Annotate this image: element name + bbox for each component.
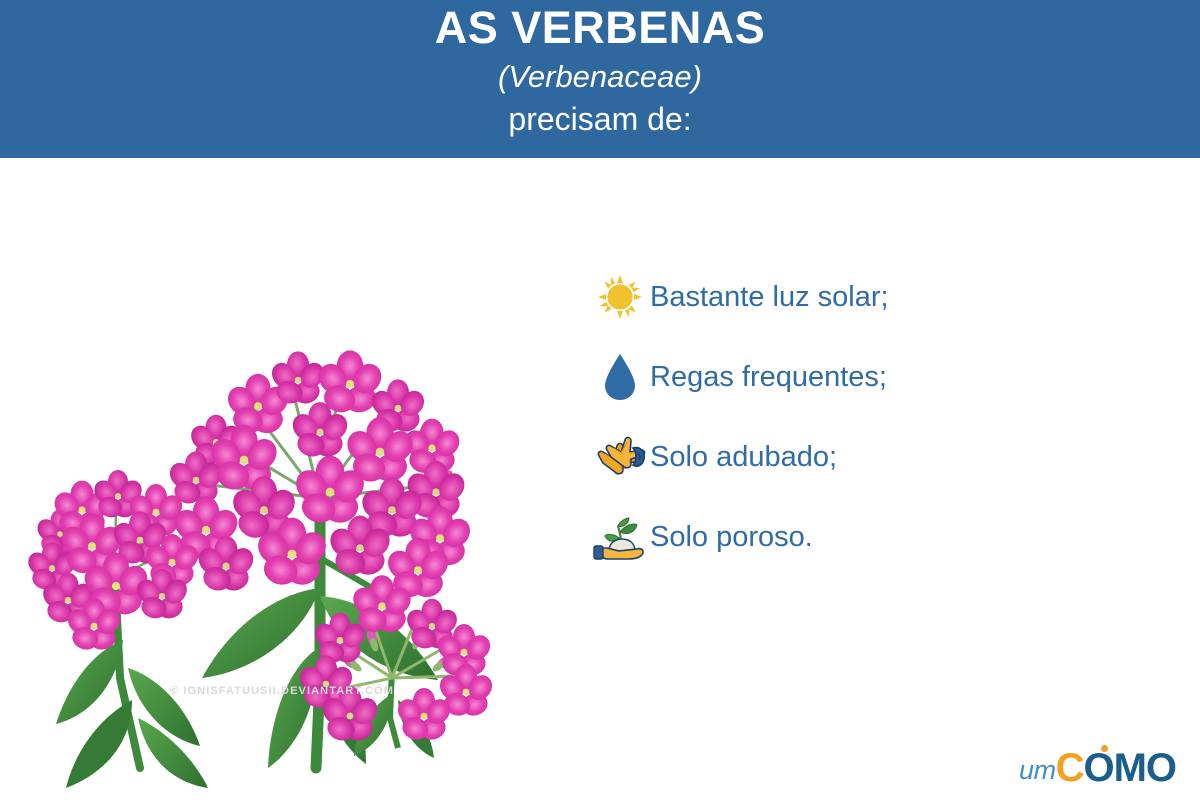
logo-como-text: COMO [1056,748,1176,788]
header-banner: AS VERBENAS (Verbenaceae) precisam de: [0,0,1200,158]
gardening-gloves-icon [592,429,648,485]
sun-icon [592,269,648,325]
requirement-label: Regas frequentes; [650,363,887,392]
water-drop-icon [592,349,648,405]
umcomo-logo[interactable]: um COMO [1019,742,1176,788]
infographic-page: AS VERBENAS (Verbenaceae) precisam de: [0,0,1200,800]
requirement-label: Solo adubado; [650,443,837,472]
requirement-label: Solo poroso. [650,523,813,552]
page-title: AS VERBENAS [435,4,766,53]
requirement-item-watering: Regas frequentes; [592,346,1012,408]
requirement-item-porous-soil: Solo poroso. [592,506,1012,568]
flower-illustration: © IGNISFATUUSII.DEVIANTART.COM [20,248,550,788]
image-watermark: © IGNISFATUUSII.DEVIANTART.COM [170,685,394,697]
content-area: © IGNISFATUUSII.DEVIANTART.COM [0,158,1200,800]
logo-c-letter: C [1056,746,1084,790]
hand-seedling-icon [592,509,648,565]
requirement-item-sunlight: Bastante luz solar; [592,266,1012,328]
requirement-label: Bastante luz solar; [650,283,889,312]
page-needs-label: precisam de: [508,99,691,139]
logo-dot-icon [1101,745,1108,752]
page-subtitle: (Verbenaceae) [498,57,702,97]
logo-um-text: um [1019,757,1056,788]
logo-omo-letters: OMO [1083,746,1176,790]
requirement-item-fertile-soil: Solo adubado; [592,426,1012,488]
requirements-list: Bastante luz solar; Regas frequentes; [592,266,1012,568]
